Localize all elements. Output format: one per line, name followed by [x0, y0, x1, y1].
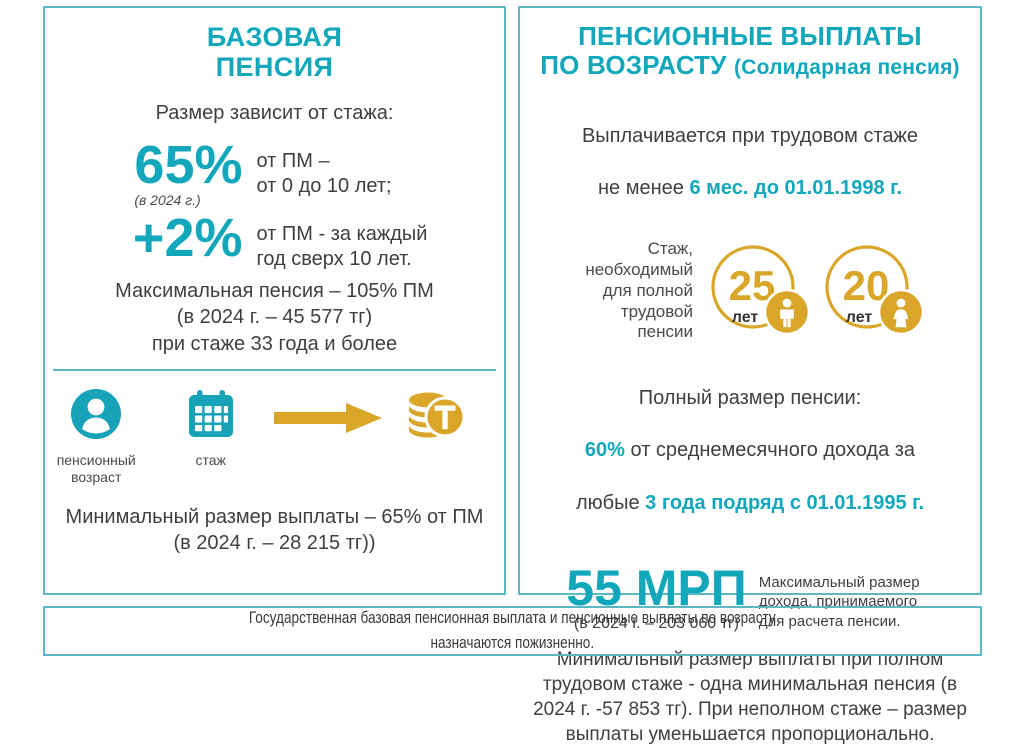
work-record-caption: стаж — [159, 452, 261, 469]
age-pension-title-paren: (Солидарная пенсия) — [734, 56, 960, 79]
max-pension-text: Максимальная пенсия – 105% ПМ (в 2024 г.… — [45, 278, 504, 357]
work-record-item: стаж — [159, 387, 261, 469]
full-pension-percent: 60% — [585, 439, 625, 461]
full-pension-mid: от среднемесячного дохода за — [625, 439, 915, 461]
age-pension-intro-plain: не менее — [598, 177, 689, 199]
rate-note-plus2: от ПМ - за каждый год сверх 10 лет. — [257, 214, 457, 272]
full-pension-period: 3 года подряд с 01.01.1995 г. — [645, 492, 924, 514]
arrow-right-icon — [274, 422, 384, 439]
full-pension-size: Полный размер пенсии: 60% от среднемесяч… — [520, 358, 980, 543]
rate-value-65: 65% (в 2024 г.) — [93, 141, 243, 208]
rate-row-plus2: +2% от ПМ - за каждый год сверх 10 лет. — [45, 214, 504, 272]
basic-pension-panel: БАЗОВАЯ ПЕНСИЯ Размер зависит от стажа: … — [43, 6, 506, 595]
age-pension-title: ПЕНСИОННЫЕ ВЫПЛАТЫ ПО ВОЗРАСТУ (Солидарн… — [520, 22, 980, 80]
circle-20-unit: лет — [846, 309, 873, 326]
required-record-label: Стаж, необходимый для полной трудовой пе… — [573, 239, 699, 343]
age-pension-intro-line2: не менее 6 мес. до 01.01.1998 г. — [520, 175, 980, 201]
formula-arrow-item — [274, 387, 388, 440]
left-panel-divider — [53, 369, 496, 371]
required-record-circle-20: 20 лет — [819, 238, 927, 344]
age-pension-intro: Выплачивается при трудовом стаже не мене… — [520, 96, 980, 228]
required-record-circle-25: 25 лет — [705, 238, 813, 344]
min-payment-text: Минимальный размер выплаты – 65% от ПМ (… — [45, 504, 504, 557]
bottom-banner: Государственная базовая пенсионная выпла… — [43, 606, 982, 656]
basic-pension-subtitle: Размер зависит от стажа: — [45, 100, 504, 126]
retirement-age-caption: пенсионный возраст — [45, 452, 147, 486]
basic-pension-title-line1: БАЗОВАЯ — [45, 22, 504, 52]
retirement-age-item: пенсионный возраст — [45, 387, 147, 486]
full-pension-line2: 60% от среднемесячного дохода за — [520, 437, 980, 463]
basic-pension-title: БАЗОВАЯ ПЕНСИЯ — [45, 22, 504, 82]
circle-25-unit: лет — [732, 309, 759, 326]
age-pension-title-main: ПО ВОЗРАСТУ — [540, 50, 734, 80]
rate-value-plus2-number: +2% — [133, 208, 243, 268]
pension-formula-icons: пенсионный возраст — [45, 387, 504, 486]
basic-pension-title-line2: ПЕНСИЯ — [45, 52, 504, 82]
required-record-circles: Стаж, необходимый для полной трудовой пе… — [520, 238, 980, 344]
age-pension-intro-highlight: 6 мес. до 01.01.1998 г. — [689, 177, 902, 199]
rate-value-plus2: +2% — [93, 214, 243, 264]
rate-note-65: от ПМ – от 0 до 10 лет; — [257, 141, 457, 199]
age-pension-footer: Минимальный размер выплаты при полном тр… — [520, 647, 980, 747]
full-pension-line3: любые 3 года подряд с 01.01.1995 г. — [520, 490, 980, 516]
infographic-root: БАЗОВАЯ ПЕНСИЯ Размер зависит от стажа: … — [0, 0, 1024, 660]
age-pension-panel: ПЕНСИОННЫЕ ВЫПЛАТЫ ПО ВОЗРАСТУ (Солидарн… — [518, 6, 982, 595]
age-pension-intro-line1: Выплачивается при трудовом стаже — [520, 123, 980, 149]
person-circle-icon — [69, 428, 123, 445]
full-pension-line1: Полный размер пенсии: — [520, 385, 980, 411]
payment-amount-item — [400, 387, 504, 448]
full-pension-plain2: любые — [576, 492, 645, 514]
calendar-icon — [184, 428, 238, 445]
bottom-banner-text: Государственная базовая пенсионная выпла… — [249, 606, 776, 655]
rate-row-65: 65% (в 2024 г.) от ПМ – от 0 до 10 лет; — [45, 141, 504, 208]
age-pension-title-line2: ПО ВОЗРАСТУ (Солидарная пенсия) — [520, 51, 980, 80]
coins-tenge-icon — [400, 430, 466, 447]
age-pension-title-line1: ПЕНСИОННЫЕ ВЫПЛАТЫ — [520, 22, 980, 51]
rate-value-65-number: 65% — [134, 135, 242, 195]
